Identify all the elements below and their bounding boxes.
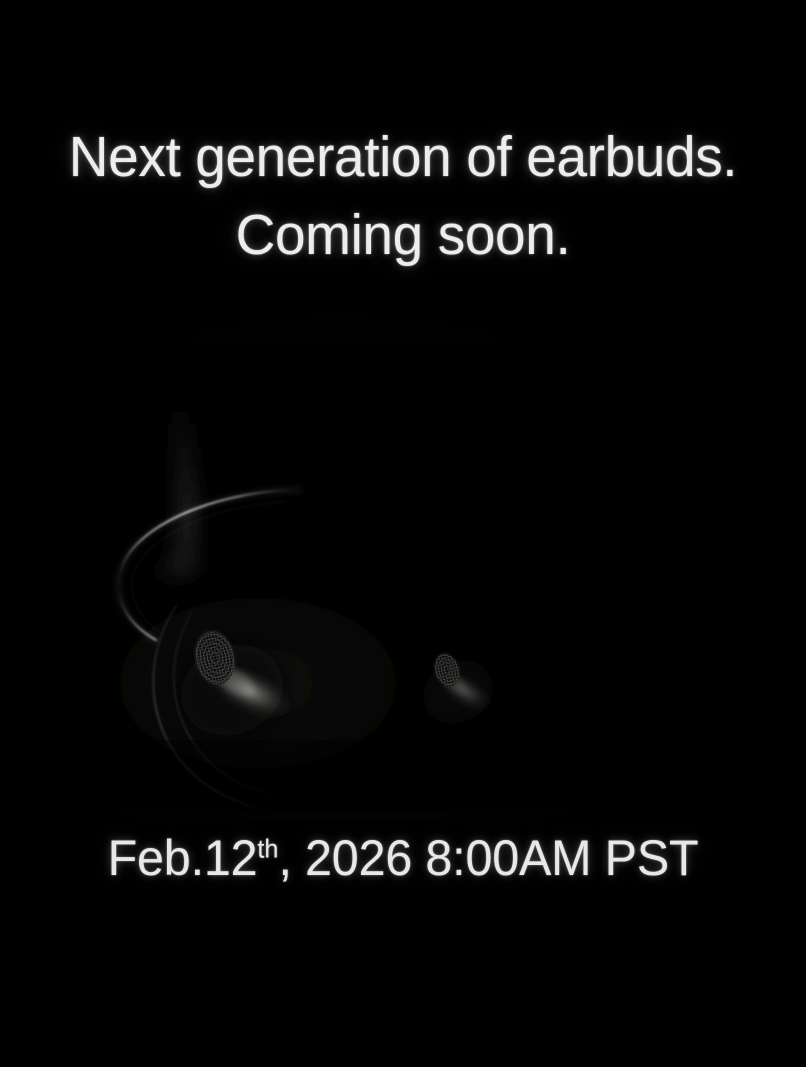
case-lid-inner-line (132, 502, 286, 632)
case-edge-arc-inner (174, 612, 276, 796)
case-body-sheen (90, 540, 510, 800)
event-date-prefix: Feb.12 (108, 830, 258, 886)
case-lid-shadow-wedge (140, 388, 198, 592)
right-earbud-specular-core (442, 672, 470, 697)
right-earbud (412, 648, 504, 735)
right-earbud-body (412, 649, 504, 736)
case-edge-arc-outer (153, 606, 268, 810)
event-date-ordinal-suffix: th (257, 833, 278, 863)
teaser-page: Next generation of earbuds. Coming soon.… (0, 0, 806, 1067)
left-earbud-mesh-grille (188, 624, 246, 696)
left-earbud-specular-highlight (196, 651, 306, 734)
right-earbud-specular-highlight (430, 663, 502, 722)
case-lid-rim-arc-glow (118, 490, 300, 640)
left-earbud-grille-rim (190, 627, 239, 688)
headline-block: Next generation of earbuds. Coming soon. (0, 118, 806, 274)
left-earbud-body (167, 629, 298, 752)
event-date-suffix: , 2026 8:00AM PST (278, 830, 698, 886)
left-earbud (167, 624, 306, 751)
headline-line-2: Coming soon. (14, 196, 792, 274)
right-earbud-mesh-grille (430, 648, 468, 694)
left-earbud-specular-core (213, 663, 259, 701)
ambient-glow (23, 300, 783, 820)
product-teaser-image (0, 340, 806, 810)
event-date-line: Feb.12th, 2026 8:00AM PST (12, 826, 794, 890)
right-earbud-grille-rim (430, 650, 463, 690)
case-lid-rim-arc (118, 490, 300, 640)
teaser-backdrop (0, 340, 806, 810)
headline-line-1: Next generation of earbuds. (14, 118, 792, 196)
